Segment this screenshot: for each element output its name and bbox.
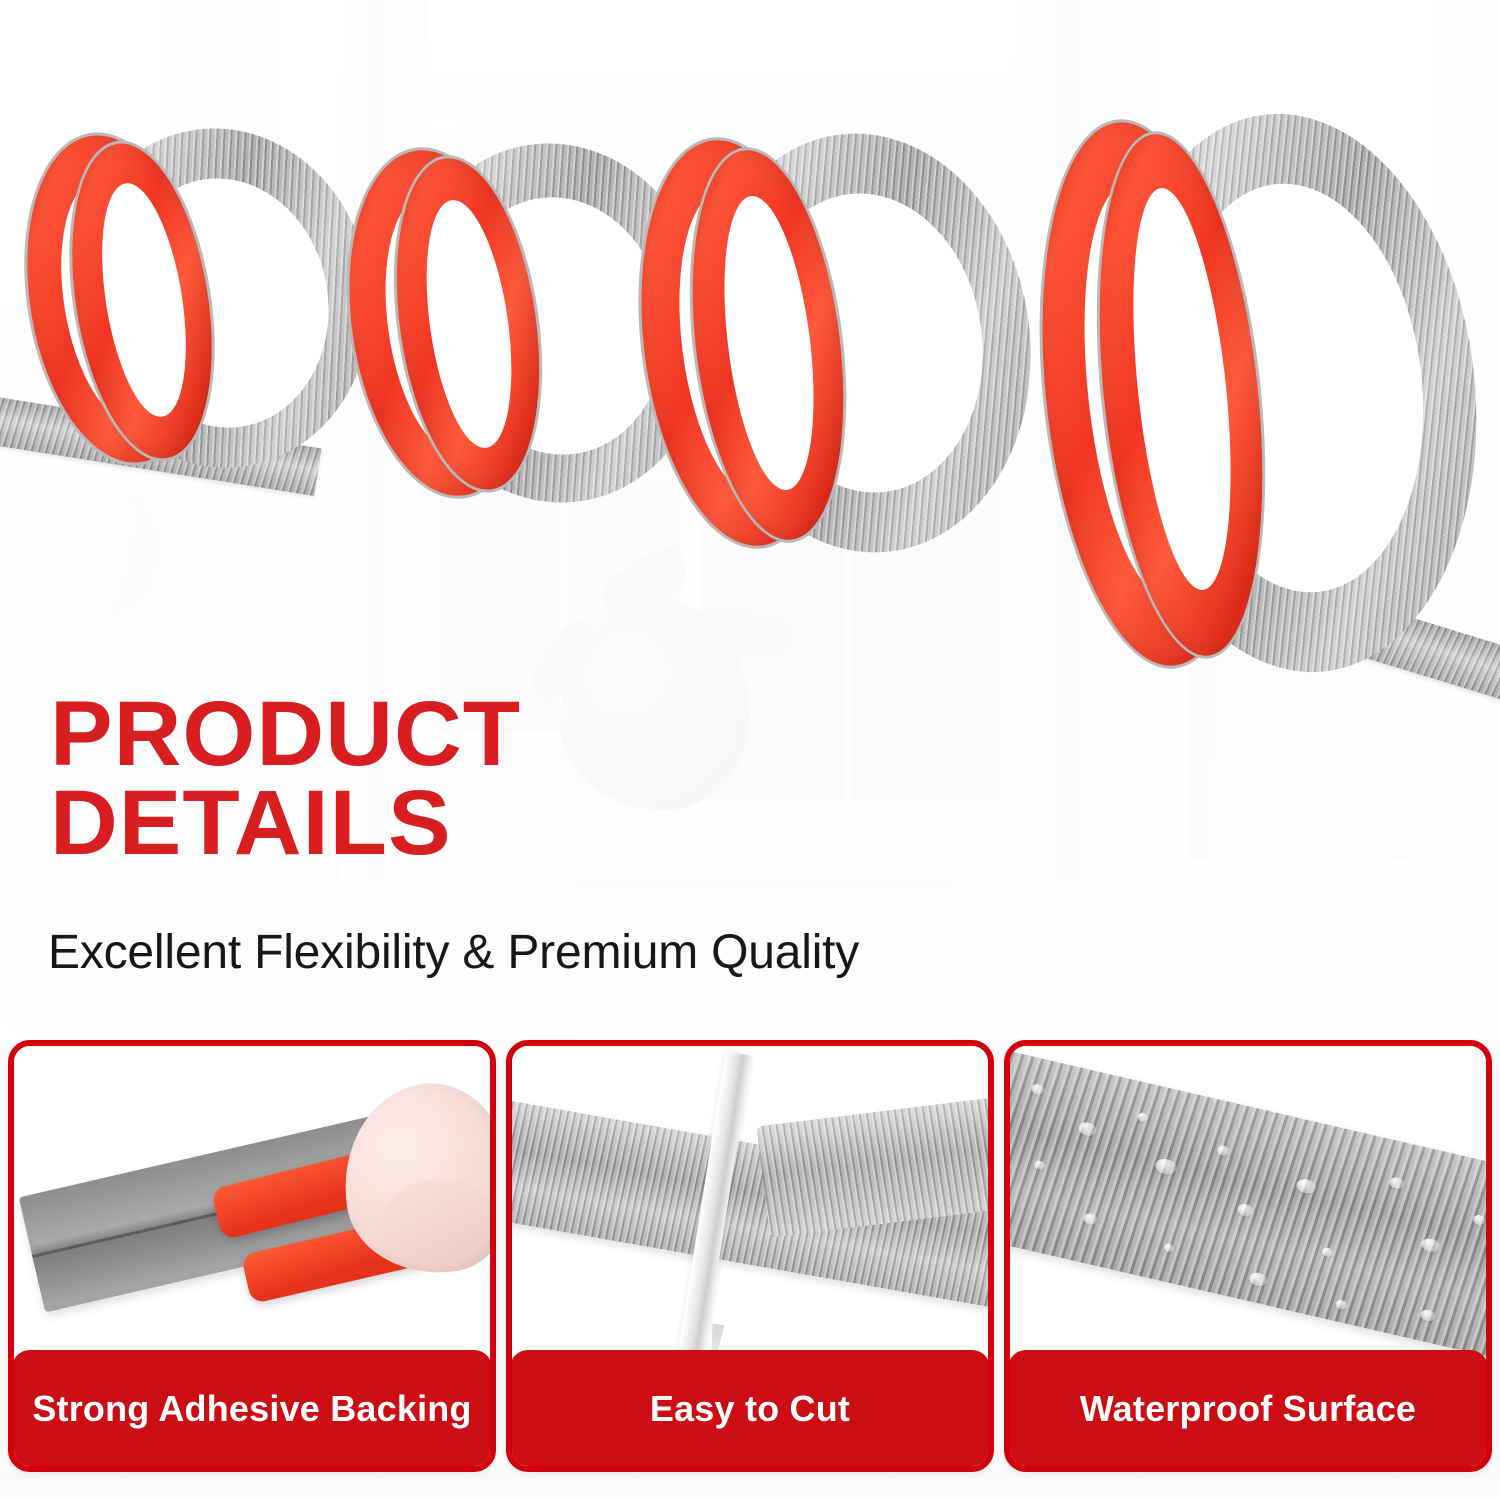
- photo-adhesive-backing: [14, 1046, 490, 1380]
- page-subtitle: Excellent Flexibility & Premium Quality: [48, 925, 859, 980]
- title-line-2: DETAILS: [50, 779, 521, 868]
- title-line-1: PRODUCT: [50, 683, 521, 785]
- panel-caption: Easy to Cut: [510, 1350, 990, 1468]
- grey-strip-wet: [1010, 1049, 1486, 1374]
- feature-panel-adhesive: Strong Adhesive Backing: [8, 1040, 496, 1472]
- panel-caption: Waterproof Surface: [1008, 1350, 1488, 1468]
- bottom-spacer: [0, 1472, 1500, 1500]
- feature-panel-waterproof: Waterproof Surface: [1004, 1040, 1492, 1472]
- page-title: PRODUCT DETAILS: [50, 690, 512, 868]
- feature-panel-easy-cut: Easy to Cut: [506, 1040, 994, 1472]
- photo-waterproof-surface: [1010, 1046, 1486, 1380]
- panel-caption: Strong Adhesive Backing: [12, 1350, 492, 1468]
- product-detail-image: PRODUCT DETAILS Excellent Flexibility & …: [0, 0, 1500, 1500]
- feature-panel-row: Strong Adhesive Backing Easy to Cut: [0, 1040, 1500, 1472]
- photo-easy-to-cut: [512, 1046, 988, 1380]
- grey-strip-far: [756, 1086, 988, 1237]
